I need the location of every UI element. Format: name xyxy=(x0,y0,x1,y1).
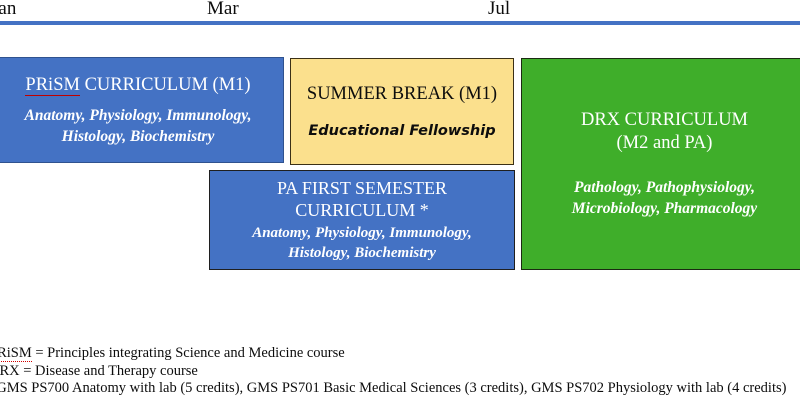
legend-line-drx: DRX = Disease and Therapy course xyxy=(0,363,800,381)
timeline-axis-line xyxy=(0,21,800,25)
phase-box-summer-break: SUMMER BREAK (M1) Educational Fellowship xyxy=(290,58,514,165)
legend-abbr-drx: DRX xyxy=(0,363,20,379)
legend-footnotes: PRiSM = Principles integrating Science a… xyxy=(0,345,800,398)
phase-courses-drx: Pathology, Pathophysiology, Microbiology… xyxy=(572,177,757,219)
legend-line-prism: PRiSM = Principles integrating Science a… xyxy=(0,345,800,363)
month-label-jul: Jul xyxy=(488,0,510,20)
phase-title-summer-break: SUMMER BREAK (M1) xyxy=(307,83,497,106)
phase-subtitle-summer-break: Educational Fellowship xyxy=(308,122,495,141)
month-label-jan: Jan xyxy=(0,0,16,20)
month-label-mar: Mar xyxy=(207,0,239,20)
phase-box-drx-curriculum: DRX CURRICULUM (M2 and PA) Pathology, Pa… xyxy=(521,58,800,270)
phase-box-pa-first-semester: PA FIRST SEMESTER CURRICULUM * Anatomy, … xyxy=(209,170,515,270)
phase-title-prism: PRiSM CURRICULUM (M1) xyxy=(25,74,250,96)
legend-text-drx: = Disease and Therapy course xyxy=(20,363,198,379)
phase-title-prism-rest: CURRICULUM (M1) xyxy=(80,75,251,95)
phase-title-pa-first-semester: PA FIRST SEMESTER CURRICULUM * xyxy=(277,177,447,221)
curriculum-timeline-diagram: Jan Mar Jul PRiSM CURRICULUM (M1) Anatom… xyxy=(0,0,800,400)
phase-courses-pa: Anatomy, Physiology, Immunology, Histolo… xyxy=(252,223,472,263)
phase-title-drx: DRX CURRICULUM (M2 and PA) xyxy=(581,109,748,155)
phase-courses-prism: Anatomy, Physiology, Immunology, Histolo… xyxy=(25,105,252,147)
legend-abbr-prism: PRiSM xyxy=(0,345,32,362)
legend-line-pa-courses: *GMS PS700 Anatomy with lab (5 credits),… xyxy=(0,380,800,398)
phase-box-prism-curriculum: PRiSM CURRICULUM (M1) Anatomy, Physiolog… xyxy=(0,57,284,163)
phase-title-prism-abbr: PRiSM xyxy=(25,75,80,96)
legend-text-prism: = Principles integrating Science and Med… xyxy=(32,345,345,361)
legend-text-pa-courses: GMS PS700 Anatomy with lab (5 credits), … xyxy=(0,380,786,396)
